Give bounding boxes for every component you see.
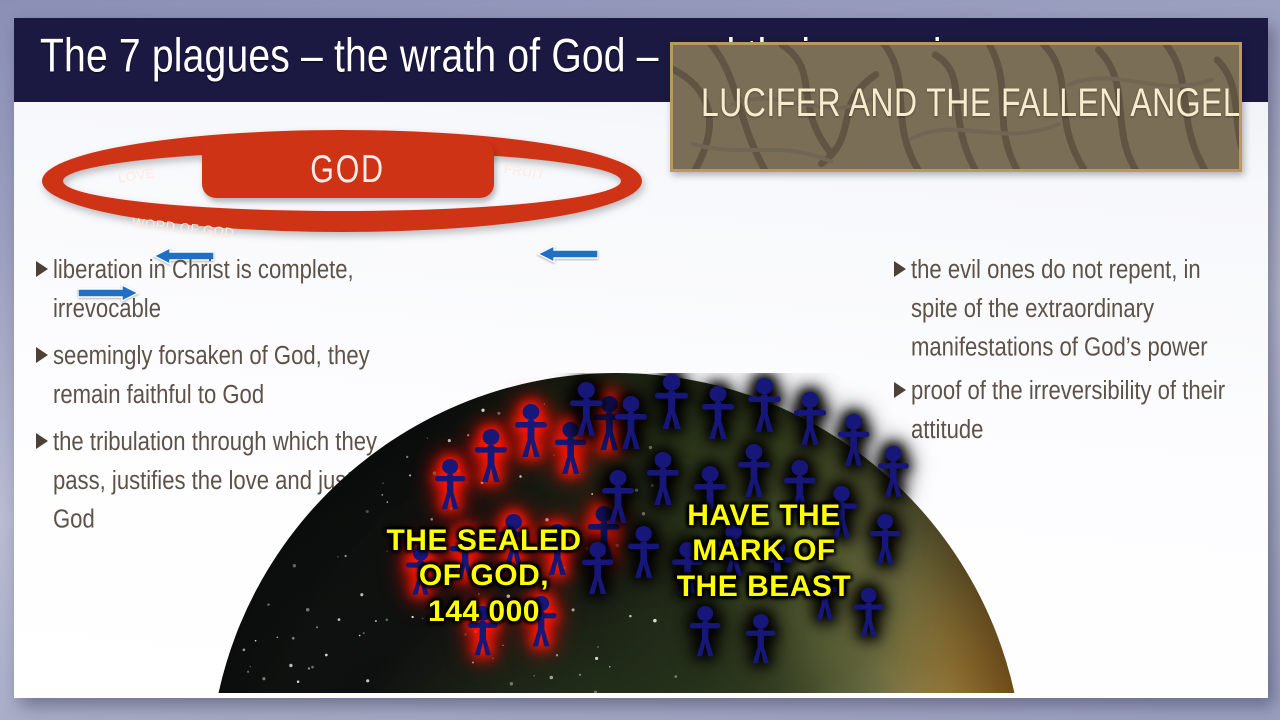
person-figure-icon (837, 413, 870, 468)
lucifer-banner-heading: LUCIFER AND THE FALLEN ANGELS (701, 80, 1242, 126)
person-figure-icon (737, 443, 771, 499)
globe-illustration (209, 373, 1024, 693)
person-figure-icon (627, 525, 660, 580)
person-figure-icon (701, 385, 735, 441)
person-figure-icon (474, 428, 508, 484)
god-cycle-diagram: GOD LOVE WORD OF GOD FRUIT (20, 104, 660, 244)
person-figure-icon (869, 513, 901, 566)
god-center-box: GOD (202, 140, 494, 198)
person-figure-icon (569, 381, 604, 438)
person-figure-icon (601, 469, 635, 525)
person-figure-icon (654, 373, 689, 431)
bullet-triangle-icon (36, 433, 48, 449)
person-figure-icon (745, 613, 777, 665)
person-figure-icon (877, 445, 910, 499)
person-figure-icon (793, 391, 827, 447)
list-item: the evil ones do not repent, in spite of… (894, 250, 1256, 354)
bullet-text: the evil ones do not repent, in spite of… (911, 250, 1242, 366)
bullet-text: liberation in Christ is complete, irrevo… (53, 250, 421, 327)
person-figure-icon (747, 377, 782, 434)
bullet-triangle-icon (36, 347, 48, 363)
slide-canvas: The 7 plagues – the wrath of God – and t… (14, 18, 1268, 698)
arrow-left-icon (536, 245, 598, 263)
bullet-triangle-icon (36, 261, 48, 277)
mark-of-the-beast-caption: HAVE THE MARK OF THE BEAST (664, 498, 864, 604)
person-figure-icon (614, 395, 648, 451)
person-figure-icon (434, 458, 466, 511)
person-figure-icon (514, 403, 548, 459)
person-figure-icon (581, 541, 614, 596)
god-center-label: GOD (311, 147, 386, 192)
list-item: liberation in Christ is complete, irrevo… (36, 250, 436, 319)
lucifer-banner: LUCIFER AND THE FALLEN ANGELS (670, 42, 1242, 172)
sealed-of-god-caption: THE SEALED OF GOD, 144 000 (384, 523, 584, 629)
bullet-triangle-icon (894, 261, 906, 277)
person-figure-icon (689, 605, 721, 658)
